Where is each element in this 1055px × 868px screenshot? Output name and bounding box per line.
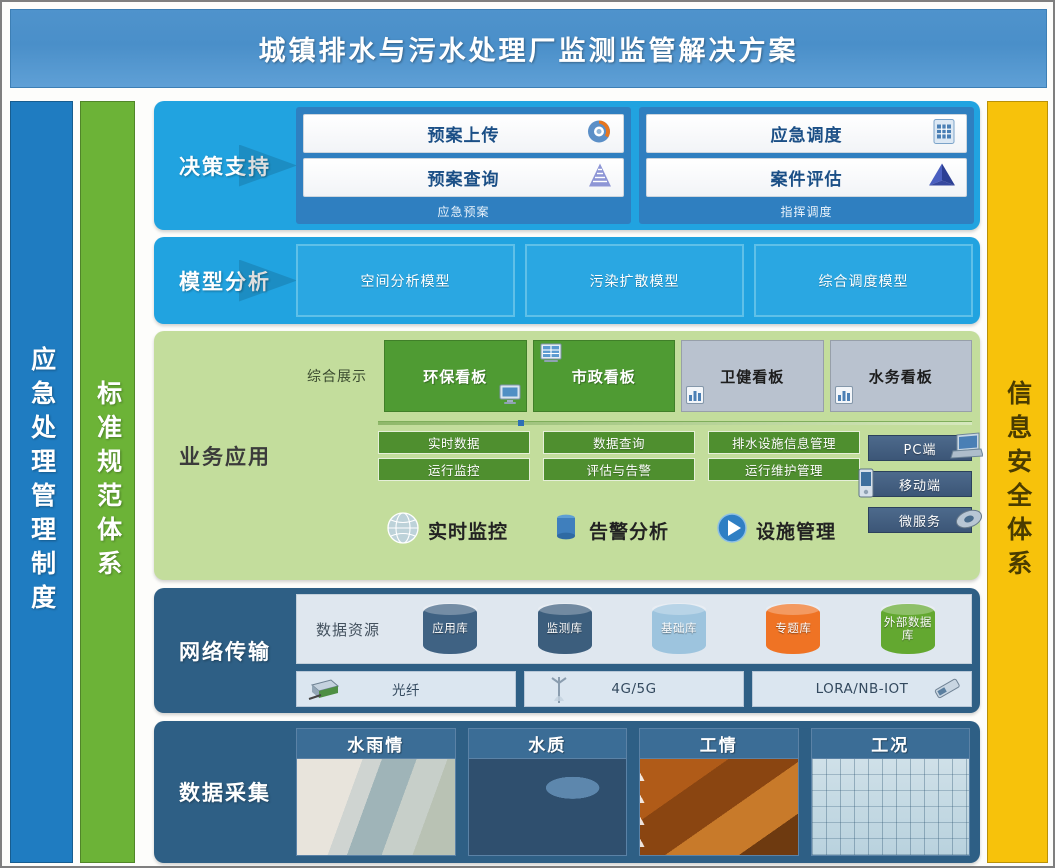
database-cylinder-icon xyxy=(549,509,583,552)
link-4g5g[interactable]: 4G/5G xyxy=(524,671,744,707)
acquisition-photo-rainfall xyxy=(297,759,455,855)
layer-data-acquisition-label: 数据采集 xyxy=(179,777,271,807)
globe-icon xyxy=(384,509,422,552)
page-title: 城镇排水与污水处理厂监测监管解决方案 xyxy=(259,29,799,68)
layer-model-analysis-label-wrap: 模型分析 xyxy=(154,237,296,324)
link-4g5g-label: 4G/5G xyxy=(611,681,656,697)
layer-business-application-label-wrap: 业务应用 xyxy=(154,331,296,580)
app-column-monitoring: 实时数据 运行监控 xyxy=(378,431,530,572)
monitor-icon xyxy=(498,383,522,409)
data-resource-label: 数据资源 xyxy=(305,619,391,640)
button-plan-upload-label: 预案上传 xyxy=(428,121,500,146)
pillar-standards-system-label: 标准规范体系 xyxy=(94,380,120,584)
rf-module-icon xyxy=(929,672,965,708)
button-emergency-dispatch-label: 应急调度 xyxy=(771,121,843,146)
model-spatial-analysis-label: 空间分析模型 xyxy=(361,271,451,291)
decision-group-command-dispatch-caption: 指挥调度 xyxy=(646,202,967,222)
refresh-circle-icon xyxy=(584,116,614,151)
layer-data-acquisition: 数据采集 水雨情 水质 工情 xyxy=(154,721,980,863)
dashboard-water-affairs-label: 水务看板 xyxy=(869,366,933,387)
layer-network-transmission-body: 数据资源 应用库 监测库 xyxy=(296,588,980,713)
decision-group-command-dispatch: 应急调度 xyxy=(639,107,974,224)
layer-business-application-label: 业务应用 xyxy=(179,441,271,471)
layer-data-acquisition-body: 水雨情 水质 工情 工况 xyxy=(296,721,980,863)
link-fiber[interactable]: 光纤 xyxy=(296,671,516,707)
dashboard-health-label: 卫健看板 xyxy=(720,366,784,387)
decision-group-emergency-plan-caption: 应急预案 xyxy=(303,202,624,222)
app-column-alarm: 数据查询 评估与告警 xyxy=(543,431,695,572)
chart-small-icon xyxy=(685,385,705,409)
button-plan-query-label: 预案查询 xyxy=(428,165,500,190)
model-pollution-diffusion[interactable]: 污染扩散模型 xyxy=(525,244,744,317)
play-circle-icon xyxy=(714,510,750,551)
app-tag-realtime-data-label: 实时数据 xyxy=(428,433,480,452)
laptop-icon xyxy=(949,431,983,465)
dashboard-municipal[interactable]: 市政看板 xyxy=(533,340,676,412)
device-badges: PC端 移动端 xyxy=(868,435,972,533)
database-basic-label: 基础库 xyxy=(661,622,697,635)
database-cell: 专题库 xyxy=(738,604,848,654)
pillar-information-security: 信息安全体系 xyxy=(987,101,1048,863)
app-feature-realtime-monitoring-label: 实时监控 xyxy=(428,517,508,544)
app-tag-data-query-label: 数据查询 xyxy=(593,433,645,452)
page-title-bar: 城镇排水与污水处理厂监测监管解决方案 xyxy=(10,9,1047,88)
pillar-information-security-label: 信息安全体系 xyxy=(1004,380,1030,584)
device-microservice[interactable]: 微服务 xyxy=(868,507,972,533)
model-spatial-analysis[interactable]: 空间分析模型 xyxy=(296,244,515,317)
app-feature-facility-management-label: 设施管理 xyxy=(756,517,836,544)
gear-wheel-icon xyxy=(953,504,985,538)
app-tag-realtime-data[interactable]: 实时数据 xyxy=(378,431,530,454)
database-thematic-label: 专题库 xyxy=(775,622,811,635)
app-feature-facility-management[interactable]: 设施管理 xyxy=(708,489,860,572)
transport-link-row: 光纤 4G/5G xyxy=(296,671,972,707)
model-integrated-dispatch[interactable]: 综合调度模型 xyxy=(754,244,973,317)
layer-decision-support-label: 决策支持 xyxy=(179,151,271,181)
acquisition-card-engineering-label: 工情 xyxy=(640,729,798,759)
acquisition-card-rainfall-label: 水雨情 xyxy=(297,729,455,759)
dashboard-municipal-label: 市政看板 xyxy=(572,366,636,387)
database-cell: 应用库 xyxy=(395,604,505,654)
window-icon xyxy=(539,342,563,368)
pillar-standards-system: 标准规范体系 xyxy=(80,101,135,863)
acquisition-photo-operating-condition xyxy=(812,759,970,855)
chart-small-icon xyxy=(834,385,854,409)
layer-model-analysis-label: 模型分析 xyxy=(179,266,271,296)
layer-model-analysis: 模型分析 空间分析模型 污染扩散模型 综合调度模型 xyxy=(154,237,980,324)
app-feature-realtime-monitoring[interactable]: 实时监控 xyxy=(378,489,530,572)
layer-decision-support-body: 预案上传 预案查询 xyxy=(296,101,980,230)
acquisition-card-water-quality-label: 水质 xyxy=(469,729,627,759)
layer-business-application-body: 综合展示 环保看板 xyxy=(296,331,980,580)
app-tag-operation-maintenance[interactable]: 运行维护管理 xyxy=(708,458,860,481)
dashboard-row-label: 综合展示 xyxy=(296,366,378,386)
link-lora-nbiot[interactable]: LORA/NB-IOT xyxy=(752,671,972,707)
app-tag-data-query[interactable]: 数据查询 xyxy=(543,431,695,454)
database-external-label: 外部数据库 xyxy=(881,616,935,642)
app-tag-drainage-facility-info-label: 排水设施信息管理 xyxy=(732,433,836,452)
acquisition-card-operating-condition-label: 工况 xyxy=(812,729,970,759)
device-mobile[interactable]: 移动端 xyxy=(868,471,972,497)
database-application[interactable]: 应用库 xyxy=(423,604,477,654)
layer-data-acquisition-label-wrap: 数据采集 xyxy=(154,721,296,863)
decision-group-emergency-plan: 预案上传 预案查询 xyxy=(296,107,631,224)
app-column-facility: 排水设施信息管理 运行维护管理 xyxy=(708,431,860,572)
device-mobile-label: 移动端 xyxy=(899,475,941,494)
database-monitoring-label: 监测库 xyxy=(547,622,583,635)
app-feature-alarm-analysis-label: 告警分析 xyxy=(589,517,669,544)
acquisition-card-operating-condition[interactable]: 工况 xyxy=(811,728,971,856)
dashboard-health[interactable]: 卫健看板 xyxy=(681,340,824,412)
layer-decision-support: 决策支持 预案上传 xyxy=(154,101,980,230)
layer-model-analysis-body: 空间分析模型 污染扩散模型 综合调度模型 xyxy=(296,237,980,324)
fiber-switch-icon xyxy=(307,675,341,707)
acquisition-photo-engineering xyxy=(640,759,798,855)
app-tag-evaluation-alarm[interactable]: 评估与告警 xyxy=(543,458,695,481)
mobile-phone-icon xyxy=(855,467,877,503)
acquisition-card-rainfall[interactable]: 水雨情 xyxy=(296,728,456,856)
database-application-label: 应用库 xyxy=(432,622,468,635)
database-cell: 基础库 xyxy=(624,604,734,654)
dashboard-environment[interactable]: 环保看板 xyxy=(384,340,527,412)
acquisition-card-engineering[interactable]: 工情 xyxy=(639,728,799,856)
model-pollution-diffusion-label: 污染扩散模型 xyxy=(590,271,680,291)
device-pc[interactable]: PC端 xyxy=(868,435,972,461)
database-external[interactable]: 外部数据库 xyxy=(881,604,935,654)
pyramid-3d-icon xyxy=(927,161,957,194)
pillar-emergency-management: 应急处理管理制度 xyxy=(10,101,73,863)
app-tag-operation-monitoring-label: 运行监控 xyxy=(428,460,480,479)
layer-network-transmission-label: 网络传输 xyxy=(179,636,271,666)
dashboard-water-affairs[interactable]: 水务看板 xyxy=(830,340,973,412)
layer-decision-support-label-wrap: 决策支持 xyxy=(154,101,296,230)
acquisition-card-water-quality[interactable]: 水质 xyxy=(468,728,628,856)
button-plan-upload[interactable]: 预案上传 xyxy=(303,114,624,153)
database-basic[interactable]: 基础库 xyxy=(652,604,706,654)
app-tag-drainage-facility-info[interactable]: 排水设施信息管理 xyxy=(708,431,860,454)
divider-marker xyxy=(518,420,524,426)
layer-network-transmission: 网络传输 数据资源 应用库 监测库 xyxy=(154,588,980,713)
diagram-canvas: 城镇排水与污水处理厂监测监管解决方案 应急处理管理制度 标准规范体系 信息安全体… xyxy=(0,0,1055,868)
button-emergency-dispatch[interactable]: 应急调度 xyxy=(646,114,967,153)
antenna-tower-icon xyxy=(549,673,569,709)
cone-chart-icon xyxy=(586,161,614,194)
application-columns: 实时数据 运行监控 xyxy=(378,431,860,572)
database-thematic[interactable]: 专题库 xyxy=(766,604,820,654)
grid-table-icon xyxy=(931,117,957,150)
divider xyxy=(378,421,972,425)
database-cell: 外部数据库 xyxy=(853,604,963,654)
link-fiber-label: 光纤 xyxy=(392,679,420,699)
button-case-evaluation-label: 案件评估 xyxy=(771,165,843,190)
pillar-emergency-management-label: 应急处理管理制度 xyxy=(28,346,54,618)
layer-network-transmission-label-wrap: 网络传输 xyxy=(154,588,296,713)
dashboard-environment-label: 环保看板 xyxy=(423,366,487,387)
model-integrated-dispatch-label: 综合调度模型 xyxy=(819,271,909,291)
app-tag-operation-maintenance-label: 运行维护管理 xyxy=(745,460,823,479)
button-plan-query[interactable]: 预案查询 xyxy=(303,158,624,197)
layer-business-application: 业务应用 综合展示 环保看板 xyxy=(154,331,980,580)
dashboard-row: 综合展示 环保看板 xyxy=(296,337,972,415)
acquisition-photo-water-quality xyxy=(469,759,627,855)
button-case-evaluation[interactable]: 案件评估 xyxy=(646,158,967,197)
app-tag-evaluation-alarm-label: 评估与告警 xyxy=(586,460,651,479)
link-lora-nbiot-label: LORA/NB-IOT xyxy=(816,681,909,697)
device-pc-label: PC端 xyxy=(904,439,937,458)
app-tag-operation-monitoring[interactable]: 运行监控 xyxy=(378,458,530,481)
layer-stack: 决策支持 预案上传 xyxy=(154,101,980,863)
device-microservice-label: 微服务 xyxy=(899,511,941,530)
database-cell: 监测库 xyxy=(509,604,619,654)
database-monitoring[interactable]: 监测库 xyxy=(538,604,592,654)
app-feature-alarm-analysis[interactable]: 告警分析 xyxy=(543,489,695,572)
data-resource-row: 数据资源 应用库 监测库 xyxy=(296,594,972,664)
